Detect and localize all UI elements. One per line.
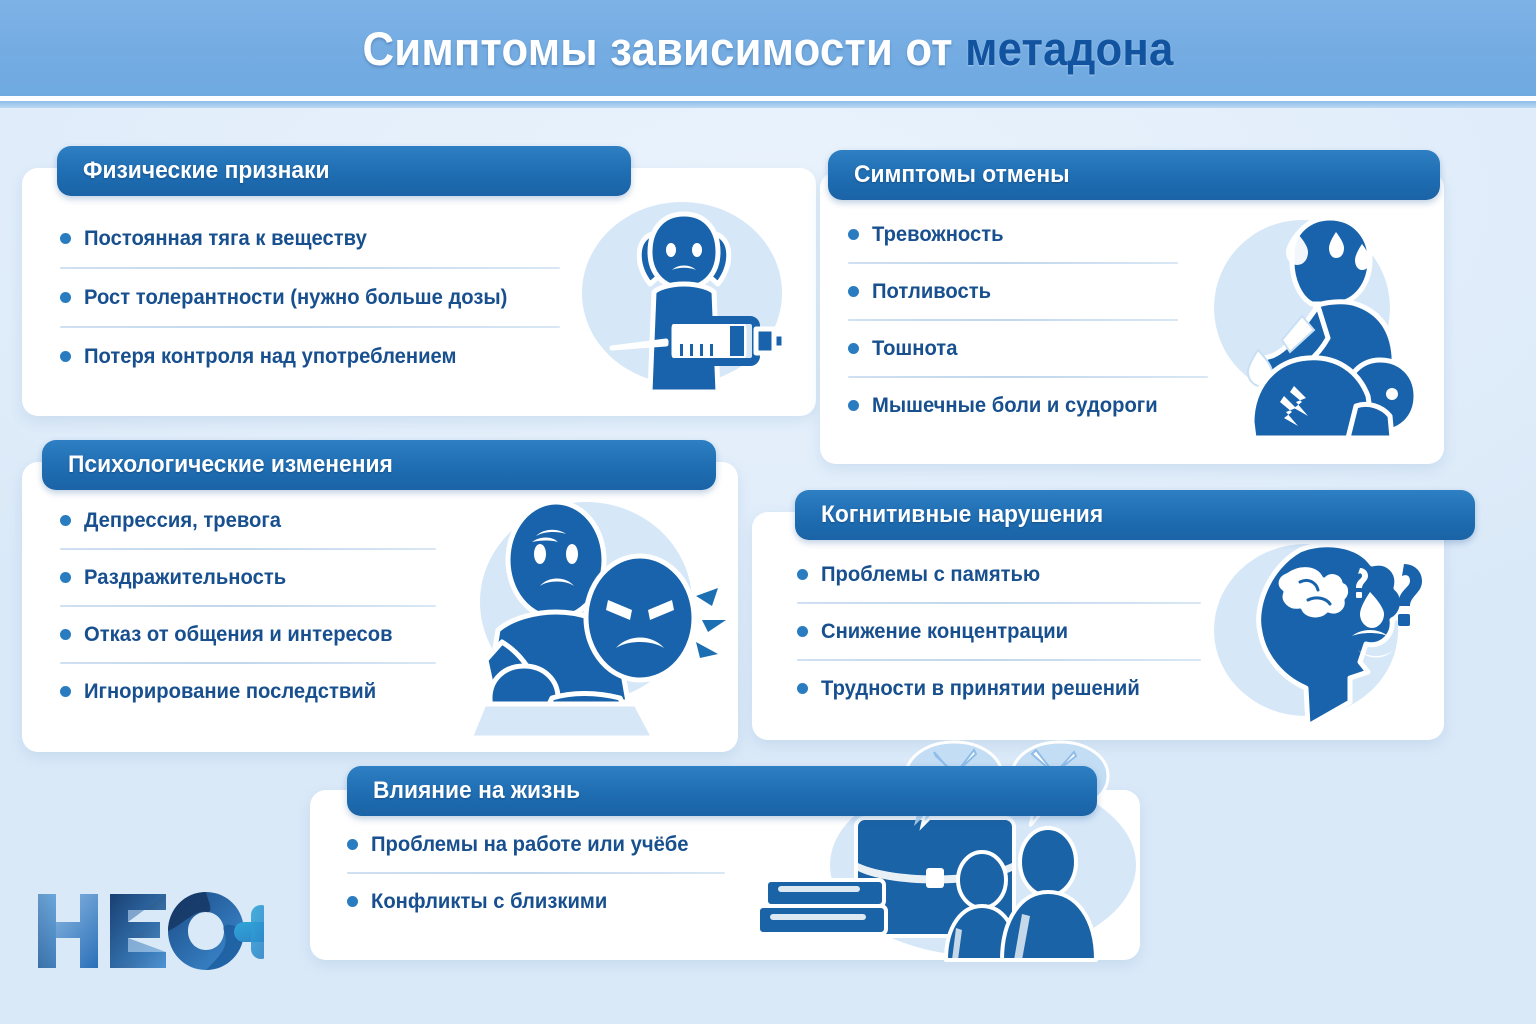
neo-plus-logo-glyph xyxy=(34,888,264,974)
card-withdrawal-symptoms-title: Симптомы отмены xyxy=(854,161,1070,189)
person-sweating-cramps-glyph xyxy=(1196,210,1446,450)
bullet-icon xyxy=(797,626,808,637)
card-life-impact-list: Проблемы на работе или учёбе Конфликты с… xyxy=(347,832,747,914)
list-separator xyxy=(848,376,1208,378)
list-item-label: Рост толерантности (нужно больше дозы) xyxy=(84,285,507,310)
bullet-icon xyxy=(848,343,859,354)
header-divider-blue xyxy=(0,101,1536,108)
list-separator xyxy=(797,602,1201,604)
list-item[interactable]: Конфликты с близкими xyxy=(347,889,747,914)
list-item-label: Тревожность xyxy=(872,222,1004,247)
person-sweating-cramps-icon xyxy=(1196,210,1446,450)
page-title-main: Симптомы зависимости от xyxy=(363,22,966,75)
list-separator xyxy=(797,659,1201,661)
list-item[interactable]: Мышечные боли и судороги xyxy=(848,393,1228,418)
person-headache-syringe-glyph xyxy=(578,196,808,396)
card-psychological-changes-header[interactable]: Психологические изменения xyxy=(42,440,716,490)
card-cognitive-impairment-title: Когнитивные нарушения xyxy=(821,501,1103,529)
brand-logo[interactable] xyxy=(34,888,264,974)
page-title-accent: метадона xyxy=(965,22,1173,75)
list-item-label: Проблемы на работе или учёбе xyxy=(371,832,689,857)
list-item[interactable]: Потеря контроля над употреблением xyxy=(60,344,570,369)
list-item[interactable]: Тревожность xyxy=(848,222,1228,247)
list-item[interactable]: Потливость xyxy=(848,279,1228,304)
list-item[interactable]: Рост толерантности (нужно больше дозы) xyxy=(60,285,570,310)
card-withdrawal-symptoms-header[interactable]: Симптомы отмены xyxy=(828,150,1440,200)
list-item-label: Проблемы с памятью xyxy=(821,562,1040,587)
bullet-icon xyxy=(60,233,71,244)
list-item[interactable]: Депрессия, тревога xyxy=(60,508,460,533)
list-item[interactable]: Тошнота xyxy=(848,336,1228,361)
list-item[interactable]: Проблемы с памятью xyxy=(797,562,1217,587)
bullet-icon xyxy=(60,686,71,697)
card-physical-signs-title: Физические признаки xyxy=(83,157,329,185)
bullet-icon xyxy=(60,629,71,640)
list-item-label: Трудности в принятии решений xyxy=(821,676,1140,701)
card-physical-signs-header[interactable]: Физические признаки xyxy=(57,146,631,196)
list-item[interactable]: Постоянная тяга к веществу xyxy=(60,226,570,251)
card-psychological-changes-title: Психологические изменения xyxy=(68,451,393,479)
list-separator xyxy=(347,872,725,874)
bullet-icon xyxy=(347,839,358,850)
bullet-icon xyxy=(848,286,859,297)
list-item-label: Раздражительность xyxy=(84,565,286,590)
page-title: Симптомы зависимости от метадона xyxy=(363,21,1174,76)
list-item-label: Отказ от общения и интересов xyxy=(84,622,393,647)
card-withdrawal-symptoms-list: Тревожность Потливость Тошнота Мышечные … xyxy=(848,222,1228,418)
bullet-icon xyxy=(797,683,808,694)
bullet-icon xyxy=(60,572,71,583)
card-life-impact-title: Влияние на жизнь xyxy=(373,777,580,805)
list-item-label: Потеря контроля над употреблением xyxy=(84,344,456,369)
bullet-icon xyxy=(60,351,71,362)
list-item-label: Игнорирование последствий xyxy=(84,679,376,704)
list-separator xyxy=(60,548,436,550)
card-cognitive-impairment-header[interactable]: Когнитивные нарушения xyxy=(795,490,1475,540)
bullet-icon xyxy=(60,292,71,303)
list-separator xyxy=(60,662,436,664)
head-brain-question-glyph xyxy=(1208,538,1442,730)
bullet-icon xyxy=(797,569,808,580)
card-life-impact-header[interactable]: Влияние на жизнь xyxy=(347,766,1097,816)
list-item-label: Конфликты с близкими xyxy=(371,889,607,914)
list-item-label: Потливость xyxy=(872,279,991,304)
person-headache-syringe-icon xyxy=(578,196,808,396)
bullet-icon xyxy=(848,229,859,240)
list-separator xyxy=(60,605,436,607)
bullet-icon xyxy=(60,515,71,526)
list-item[interactable]: Отказ от общения и интересов xyxy=(60,622,460,647)
list-item-label: Тошнота xyxy=(872,336,957,361)
list-item[interactable]: Снижение концентрации xyxy=(797,619,1217,644)
bullet-icon xyxy=(347,896,358,907)
list-item[interactable]: Проблемы на работе или учёбе xyxy=(347,832,747,857)
list-item-label: Постоянная тяга к веществу xyxy=(84,226,367,251)
sad-angry-faces-icon xyxy=(440,492,730,740)
list-item[interactable]: Раздражительность xyxy=(60,565,460,590)
infographic-root: Симптомы зависимости от метадона Физичес… xyxy=(0,0,1536,1024)
list-item[interactable]: Игнорирование последствий xyxy=(60,679,460,704)
card-physical-signs-list: Постоянная тяга к веществу Рост толерант… xyxy=(60,226,570,369)
sad-angry-faces-glyph xyxy=(440,492,730,740)
list-item-label: Депрессия, тревога xyxy=(84,508,281,533)
list-separator xyxy=(60,326,560,328)
list-separator xyxy=(60,267,560,269)
card-cognitive-impairment-list: Проблемы с памятью Снижение концентрации… xyxy=(797,562,1217,701)
list-item-label: Мышечные боли и судороги xyxy=(872,393,1158,418)
list-item[interactable]: Трудности в принятии решений xyxy=(797,676,1217,701)
list-item-label: Снижение концентрации xyxy=(821,619,1068,644)
bullet-icon xyxy=(848,400,859,411)
head-brain-question-icon xyxy=(1208,538,1442,730)
card-psychological-changes-list: Депрессия, тревога Раздражительность Отк… xyxy=(60,508,460,704)
list-separator xyxy=(848,262,1178,264)
list-separator xyxy=(848,319,1178,321)
page-header: Симптомы зависимости от метадона xyxy=(0,0,1536,96)
